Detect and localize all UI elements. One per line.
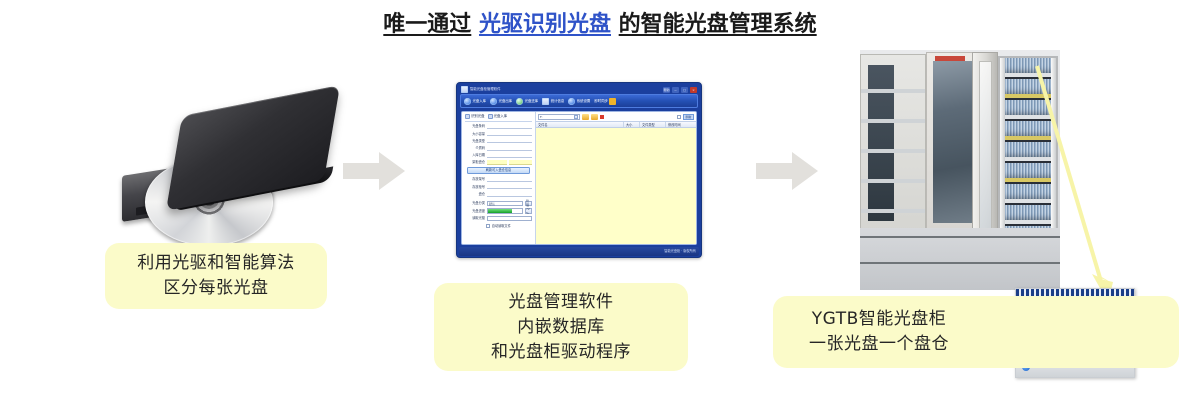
disc-barcode-input[interactable]	[487, 124, 532, 129]
software-statusbar: 智能光盘柜 · 版权所有	[459, 247, 699, 256]
callout-right-text: YGTB智能光盘柜 一张光盘一个盘仓	[809, 307, 949, 357]
toolbar-label: 统计信息	[551, 99, 565, 104]
toolbar-item-stats[interactable]: 统计信息	[542, 98, 564, 105]
disc-scan-icon	[465, 114, 470, 119]
slide-canvas: 唯一通过 光驱识别光盘 的智能光盘管理系统 智能光盘柜管理软件 帮助 － □	[0, 0, 1200, 400]
field-label: 光盘进度	[465, 209, 485, 213]
toolbar-label: 即时同步	[594, 99, 608, 104]
toolbar-item-disc-in[interactable]: 光盘入库	[464, 98, 486, 105]
column-size[interactable]: 大小	[624, 122, 640, 127]
tab-identify-disc[interactable]: 识别光盘	[465, 114, 485, 119]
flow-arrow-1	[343, 152, 405, 190]
stats-icon	[542, 98, 549, 105]
dvd-drive-photo	[112, 98, 328, 230]
field-slot-info: 架柜盘仓	[465, 160, 532, 165]
callout-middle-line3: 和光盘柜驱动程序	[491, 340, 631, 365]
callout-middle-line2: 内嵌数据库	[517, 315, 605, 340]
callout-left: 利用光驱和智能算法 区分每张光盘	[105, 243, 327, 309]
title-part2: 的智能光盘管理系统	[619, 12, 817, 37]
refresh-checkbox[interactable]	[677, 115, 681, 119]
software-left-panel: 识别光盘 光盘入库 光盘条码 大小容量 光盘类型	[462, 112, 536, 244]
software-body: 识别光盘 光盘入库 光盘条码 大小容量 光盘类型	[461, 111, 697, 245]
in-date-input[interactable]	[487, 153, 532, 158]
new-folder-icon[interactable]	[591, 114, 598, 120]
field-cabinet-no: 存放柜号	[465, 184, 532, 189]
field-capacity: 大小容量	[465, 131, 532, 136]
auto-read-label: 自动读取文件	[492, 224, 511, 228]
help-button[interactable]: 帮助	[663, 87, 670, 93]
toolbar-item-sync[interactable]: 即时同步	[594, 98, 616, 105]
capacity-input[interactable]	[487, 131, 532, 136]
callout-middle: 光盘管理软件 内嵌数据库 和光盘柜驱动程序	[434, 283, 688, 371]
disc-category-select[interactable]: 默认	[487, 201, 523, 207]
callout-right-line1: YGTB智能光盘柜	[812, 307, 947, 332]
callout-right-line2: 一张光盘一个盘仓	[809, 332, 949, 357]
field-label: 大小容量	[465, 132, 485, 136]
field-in-date: 入库日期	[465, 153, 532, 158]
tab-label: 识别光盘	[471, 114, 485, 119]
stop-icon[interactable]	[600, 115, 604, 119]
toolbar-item-settings[interactable]: 系统设置	[568, 98, 590, 105]
app-logo-icon	[461, 86, 468, 93]
software-screenshot: 智能光盘柜管理软件 帮助 － □ × 光盘入库 光盘出库 光盘还库	[456, 82, 702, 258]
drive-lid	[166, 85, 340, 211]
open-folder-icon[interactable]	[582, 114, 589, 120]
field-disc-barcode: 光盘条码	[465, 124, 532, 129]
file-browser-toolbar: F: 刷新	[536, 112, 696, 121]
callout-middle-line1: 光盘管理软件	[509, 290, 614, 315]
callout-left-line1: 利用光驱和智能算法	[137, 251, 295, 276]
rack-no-input[interactable]	[487, 177, 532, 182]
field-disc-type: 光盘类型	[465, 138, 532, 143]
auto-read-checkbox[interactable]	[486, 224, 490, 228]
toolbar-label: 系统设置	[577, 99, 591, 104]
field-label: 存放柜号	[465, 185, 485, 189]
disc-out-icon	[490, 98, 497, 105]
field-drive-select: 读取光驱	[465, 216, 532, 222]
file-list-area[interactable]	[536, 128, 696, 244]
close-button[interactable]: ×	[690, 87, 697, 93]
disc-in-small-icon	[488, 114, 493, 119]
cabinet-left	[860, 54, 926, 232]
disc-type-input[interactable]	[487, 138, 532, 143]
field-slot-no: 盘仓	[465, 192, 532, 197]
page-title: 唯一通过 光驱识别光盘 的智能光盘管理系统	[0, 10, 1200, 40]
field-label: 盘仓	[465, 192, 485, 196]
maximize-button[interactable]: □	[681, 87, 688, 93]
disc-return-icon	[516, 98, 523, 105]
file-list-header: 文件名 大小 文件类型 修改时间	[536, 121, 696, 128]
read-progress-bar	[487, 208, 523, 214]
slot-no-input[interactable]	[487, 192, 532, 197]
software-titlebar: 智能光盘柜管理软件 帮助 － □ ×	[459, 85, 699, 94]
toolbar-item-disc-return[interactable]: 光盘还库	[516, 98, 538, 105]
field-media-code: 介质码	[465, 146, 532, 151]
column-filetype[interactable]: 文件类型	[640, 122, 666, 127]
field-progress: 光盘进度 72 %	[465, 208, 532, 214]
manage-categories-button[interactable]: 管理	[525, 201, 532, 207]
cabinet-open-door	[972, 52, 998, 248]
title-highlight: 光驱识别光盘	[479, 12, 611, 37]
statusbar-text: 智能光盘柜 · 版权所有	[664, 249, 696, 253]
software-right-panel: F: 刷新 文件名 大小 文件类型 修改时间	[536, 112, 696, 244]
slot-input-a[interactable]	[487, 160, 507, 165]
title-part1: 唯一通过	[383, 12, 471, 37]
callout-left-line2: 区分每张光盘	[164, 276, 269, 301]
refresh-label[interactable]: 刷新	[683, 114, 694, 120]
auto-read-checkbox-row[interactable]: 自动读取文件	[465, 224, 532, 228]
sync-icon	[609, 98, 616, 105]
column-modified[interactable]: 修改时间	[666, 122, 696, 127]
chevron-down-icon	[574, 115, 578, 119]
toolbar-label: 光盘还库	[525, 99, 539, 104]
field-label: 介质码	[465, 146, 485, 150]
tab-disc-in[interactable]: 光盘入库	[488, 114, 508, 119]
toolbar-label: 光盘出库	[499, 99, 513, 104]
tab-label: 光盘入库	[494, 114, 508, 119]
field-label: 光盘分类	[465, 201, 485, 205]
software-toolbar: 光盘入库 光盘出库 光盘还库 统计信息 系统设置 即时同步	[460, 94, 698, 108]
callout-right: YGTB智能光盘柜 一张光盘一个盘仓	[773, 296, 1179, 368]
toolbar-item-disc-out[interactable]: 光盘出库	[490, 98, 512, 105]
field-label: 架柜盘仓	[465, 160, 485, 164]
refresh-control[interactable]: 刷新	[677, 114, 694, 120]
flow-arrow-2	[756, 152, 818, 190]
drive-path-value: F:	[540, 115, 543, 119]
cabinet-no-input[interactable]	[487, 184, 532, 189]
field-label: 光盘条码	[465, 124, 485, 128]
field-rack-no: 存放架号	[465, 177, 532, 182]
column-filename[interactable]: 文件名	[536, 122, 624, 127]
drive-path-select[interactable]: F:	[538, 114, 580, 120]
field-label: 存放架号	[465, 177, 485, 181]
disc-in-icon	[464, 98, 471, 105]
zoom-indicator-arrow	[1000, 60, 1120, 310]
panel-tabs: 识别光盘 光盘入库	[465, 114, 532, 122]
field-label: 光盘类型	[465, 139, 485, 143]
field-disc-category: 光盘分类 默认 管理	[465, 201, 532, 207]
toolbar-label: 光盘入库	[473, 99, 487, 104]
field-label: 入库日期	[465, 153, 485, 157]
slot-input-b[interactable]	[509, 160, 532, 165]
settings-icon	[568, 98, 575, 105]
drive-select[interactable]	[487, 216, 532, 222]
refresh-slots-button[interactable]: 刷新可入盘仓信息	[467, 167, 530, 174]
minimize-button[interactable]: －	[672, 87, 679, 93]
field-label: 读取光驱	[465, 216, 485, 220]
media-code-input[interactable]	[487, 146, 532, 151]
software-window-title: 智能光盘柜管理软件	[470, 87, 661, 92]
progress-value: 72 %	[525, 208, 532, 214]
window-buttons: 帮助 － □ ×	[663, 87, 697, 93]
